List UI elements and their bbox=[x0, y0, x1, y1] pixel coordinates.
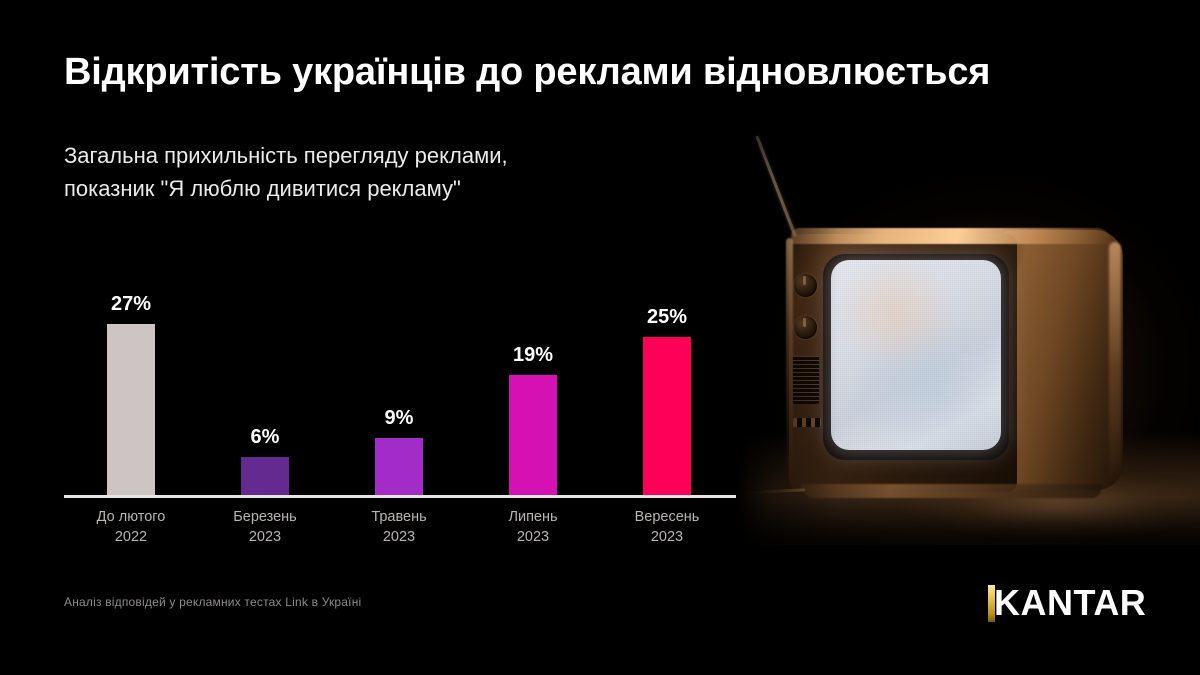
tv-side-panel bbox=[1001, 230, 1123, 490]
bar-4 bbox=[509, 375, 557, 495]
x-label-year: 2023 bbox=[198, 528, 332, 548]
bar-slot bbox=[198, 457, 332, 495]
x-axis-labels: До лютого2022Березень2023Травень2023Липе… bbox=[64, 508, 736, 560]
x-axis-label-1: До лютого2022 bbox=[64, 508, 198, 547]
tv-tuner-knob-lower bbox=[794, 316, 817, 339]
tv-top-rim-light bbox=[791, 228, 1111, 244]
bar-value-label: 9% bbox=[332, 407, 466, 430]
tv-static-screen bbox=[831, 260, 1001, 450]
tv-base bbox=[801, 484, 1101, 498]
x-axis-label-3: Травень2023 bbox=[332, 508, 466, 547]
x-label-period: До лютого bbox=[97, 509, 166, 525]
x-axis-label-2: Березень2023 bbox=[198, 508, 332, 547]
x-label-period: Липень bbox=[508, 509, 557, 525]
x-label-period: Травень bbox=[371, 509, 426, 525]
bar-slot bbox=[64, 324, 198, 495]
subtitle-line-1: Загальна прихильність перегляду реклами, bbox=[64, 140, 704, 173]
page-title: Відкритість українців до реклами відновл… bbox=[64, 50, 1124, 95]
bar-2 bbox=[241, 457, 289, 495]
tv-control-buttons bbox=[793, 418, 821, 427]
kantar-logo: KANTAR bbox=[988, 583, 1146, 623]
x-label-period: Вересень bbox=[635, 509, 700, 525]
tv-speaker-vent bbox=[793, 356, 819, 404]
x-axis-label-5: Вересень2023 bbox=[600, 508, 734, 547]
bar-value-label: 27% bbox=[64, 293, 198, 316]
page-subtitle: Загальна прихильність перегляду реклами,… bbox=[64, 140, 704, 205]
x-label-year: 2023 bbox=[332, 528, 466, 548]
x-label-year: 2023 bbox=[466, 528, 600, 548]
bar-slot bbox=[332, 438, 466, 495]
x-axis-label-4: Липень2023 bbox=[466, 508, 600, 547]
bar-3 bbox=[375, 438, 423, 495]
x-label-year: 2023 bbox=[600, 528, 734, 548]
x-label-year: 2022 bbox=[64, 528, 198, 548]
tv-right-rim-light bbox=[1109, 242, 1121, 482]
bar-value-label: 19% bbox=[466, 344, 600, 367]
crt-television bbox=[783, 228, 1123, 498]
vintage-tv-photo bbox=[735, 0, 1200, 675]
bar-slot bbox=[466, 375, 600, 495]
bar-chart-plot-area: 27%6%9%19%25% bbox=[64, 270, 736, 497]
bar-chart: 27%6%9%19%25% До лютого2022Березень2023Т… bbox=[64, 270, 736, 560]
bar-slot bbox=[600, 337, 734, 495]
bar-value-label: 25% bbox=[600, 306, 734, 329]
tv-tuner-knob-upper bbox=[794, 274, 817, 297]
subtitle-line-2: показник "Я люблю дивитися рекламу" bbox=[64, 173, 704, 206]
bar-5 bbox=[643, 337, 691, 495]
tv-left-rim-light bbox=[786, 238, 793, 488]
x-axis-line bbox=[64, 495, 736, 498]
infographic-canvas: Відкритість українців до реклами відновл… bbox=[0, 0, 1200, 675]
bar-1 bbox=[107, 324, 155, 495]
kantar-logo-wordmark: KANTAR bbox=[994, 585, 1146, 621]
x-label-period: Березень bbox=[233, 509, 297, 525]
bar-value-label: 6% bbox=[198, 426, 332, 449]
source-footnote: Аналіз відповідей у рекламних тестах Lin… bbox=[64, 595, 361, 609]
